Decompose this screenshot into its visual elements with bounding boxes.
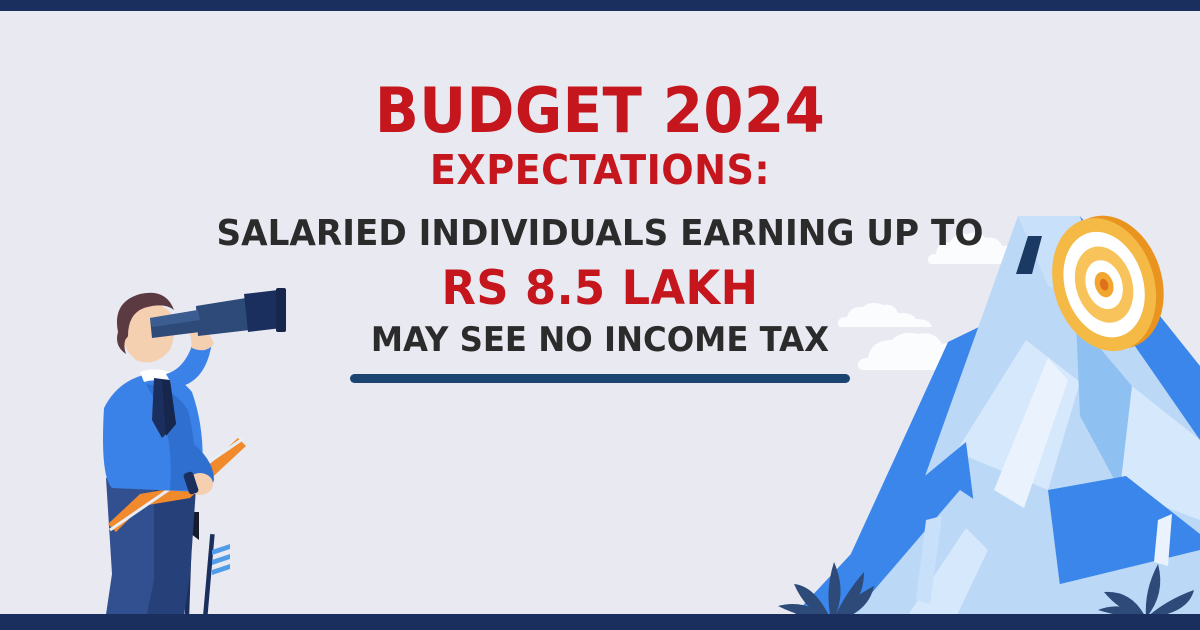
bottom-accent-bar (0, 614, 1200, 630)
headline-line-1: BUDGET 2024 (42, 78, 1158, 144)
headline-line-2: EXPECTATIONS: (42, 144, 1158, 196)
budget-banner: BUDGET 2024 EXPECTATIONS: SALARIED INDIV… (0, 0, 1200, 630)
headline-line-4: RS 8.5 LAKH (30, 260, 1170, 318)
top-accent-bar (0, 0, 1200, 11)
foreground-bush (1090, 556, 1200, 618)
headline-line-3: SALARIED INDIVIDUALS EARNING UP TO (30, 208, 1170, 260)
headline-line-5: MAY SEE NO INCOME TAX (30, 318, 1170, 362)
headline-underline (350, 374, 850, 383)
foreground-bush (772, 548, 892, 622)
headline-block: BUDGET 2024 EXPECTATIONS: SALARIED INDIV… (0, 78, 1200, 383)
